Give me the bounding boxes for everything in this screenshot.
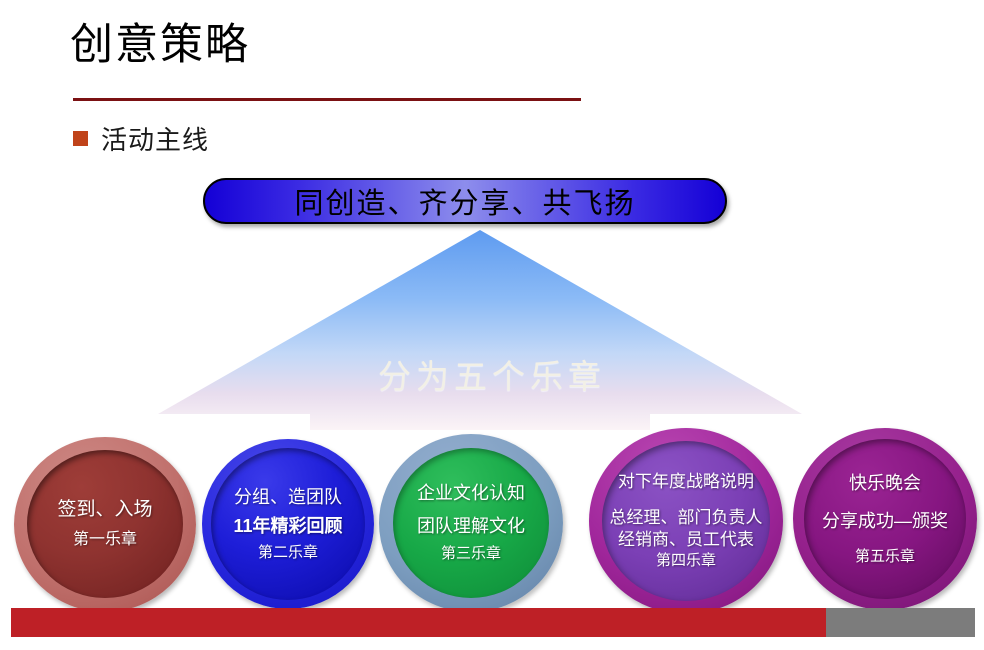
stage-5-line-3: 第五乐章 [855, 548, 915, 567]
bullet-label: 活动主线 [101, 120, 209, 157]
stage-circle-5[interactable]: 快乐晚会 分享成功—颁奖 第五乐章 [793, 428, 977, 610]
stage-circle-4-inner: 对下年度战略说明 总经理、部门负责人 经销商、员工代表 第四乐章 [602, 441, 770, 601]
stage-5-line-1: 快乐晚会 [849, 472, 921, 495]
slide-canvas: 创意策略 活动主线 分为五个乐章 同创造、齐分享、共飞扬 签 [0, 0, 984, 650]
stage-4-line-4: 第四乐章 [656, 552, 716, 571]
stage-2-line-2: 11年精彩回顾 [233, 515, 342, 538]
footer-bar-accent-left [11, 608, 826, 637]
footer-bar [11, 608, 975, 637]
page-title: 创意策略 [70, 22, 250, 69]
stage-circle-1-inner: 签到、入场 第一乐章 [27, 450, 183, 598]
stage-1-line-1: 签到、入场 [57, 498, 152, 522]
stage-1-line-2: 第一乐章 [73, 530, 137, 550]
stage-circle-1[interactable]: 签到、入场 第一乐章 [14, 437, 196, 612]
theme-banner: 同创造、齐分享、共飞扬 [203, 178, 727, 224]
stage-2-line-3: 第二乐章 [258, 544, 318, 563]
stage-circle-3-inner: 企业文化认知 团队理解文化 第三乐章 [393, 448, 549, 598]
stage-4-line-1: 对下年度战略说明 [618, 471, 754, 492]
arrow-icon [150, 228, 810, 430]
stage-5-line-2: 分享成功—颁奖 [822, 510, 948, 533]
footer-bar-accent-right [826, 608, 975, 637]
stage-2-line-1: 分组、造团队 [234, 486, 342, 509]
stage-circle-4[interactable]: 对下年度战略说明 总经理、部门负责人 经销商、员工代表 第四乐章 [589, 428, 783, 614]
stage-4-line-2: 总经理、部门负责人 [610, 507, 763, 528]
stage-3-line-1: 企业文化认知 [417, 482, 525, 505]
bullet-row: 活动主线 [73, 120, 209, 157]
square-bullet-icon [73, 131, 88, 146]
stage-circle-2[interactable]: 分组、造团队 11年精彩回顾 第二乐章 [202, 439, 374, 609]
stage-circle-2-inner: 分组、造团队 11年精彩回顾 第二乐章 [211, 448, 365, 600]
theme-banner-text: 同创造、齐分享、共飞扬 [294, 180, 635, 222]
stage-circle-3[interactable]: 企业文化认知 团队理解文化 第三乐章 [379, 434, 563, 612]
upward-arrow-graphic [150, 228, 810, 430]
title-underline-rule [73, 98, 581, 101]
stage-3-line-3: 第三乐章 [441, 545, 501, 564]
stage-4-line-3: 经销商、员工代表 [618, 529, 754, 550]
stage-3-line-2: 团队理解文化 [417, 515, 525, 538]
stage-circle-5-inner: 快乐晚会 分享成功—颁奖 第五乐章 [804, 439, 966, 599]
